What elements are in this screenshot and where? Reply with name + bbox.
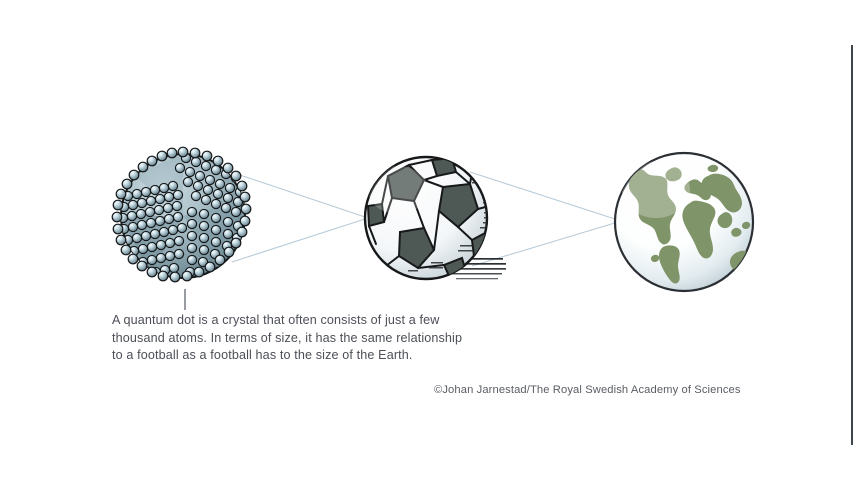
football-illustration	[365, 157, 506, 279]
figure-caption: A quantum dot is a crystal that often co…	[112, 312, 532, 365]
caption-line-3: to a football as a football has to the s…	[112, 347, 532, 365]
figure-credit: ©Johan Jarnestad/The Royal Swedish Acade…	[434, 383, 741, 397]
quantum-dot-illustration	[112, 147, 251, 282]
earth-illustration	[615, 153, 753, 291]
caption-line-1: A quantum dot is a crystal that often co…	[112, 312, 532, 330]
illustration-canvas: A quantum dot is a crystal that often co…	[0, 0, 857, 482]
caption-line-2: thousand atoms. In terms of size, it has…	[112, 330, 532, 348]
connector-dot-to-football	[228, 171, 365, 262]
connector-football-to-earth	[470, 172, 618, 266]
scale-comparison-figure	[0, 0, 857, 482]
right-edge-rule	[851, 45, 853, 445]
